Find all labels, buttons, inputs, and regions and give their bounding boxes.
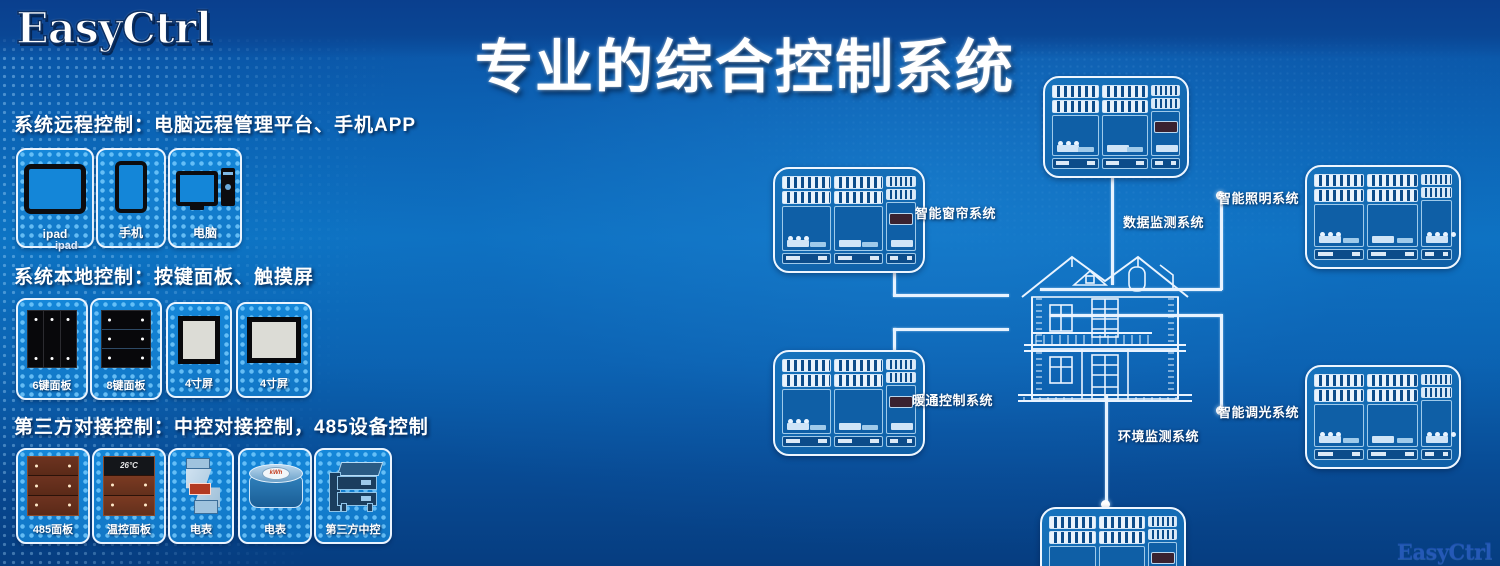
module-environment-monitor[interactable]: [1040, 507, 1186, 566]
diagram-label-lighting: 智能照明系统: [1218, 188, 1299, 207]
eight-key-panel-icon: [92, 300, 160, 377]
thermostat-panel-icon: 26°C: [94, 450, 164, 521]
section-title-thirdparty: 第三方对接控制：中控对接控制，485设备控制: [14, 412, 429, 439]
device-card-meter-2[interactable]: kWh 电表: [238, 448, 312, 544]
module-curtain-controller[interactable]: [773, 167, 925, 273]
device-label: 第三方中控: [326, 521, 381, 537]
device-label: ipad: [43, 227, 68, 241]
ghost-label-ipad: ipad: [55, 240, 78, 252]
diagram-label-hvac: 暖通控制系统: [912, 390, 993, 409]
device-label: 6键面板: [32, 377, 71, 393]
touch-screen-wide-icon: [238, 304, 310, 375]
system-topology-diagram: 智能窗帘系统 数据监测系统 智能照明系统: [740, 60, 1500, 566]
module-data-monitor[interactable]: [1043, 76, 1189, 178]
device-card-ipad[interactable]: ipad: [16, 148, 94, 248]
tablet-icon: [18, 150, 92, 227]
device-card-thermostat[interactable]: 26°C 温控面板: [92, 448, 166, 544]
diagram-label-data: 数据监测系统: [1123, 212, 1204, 231]
device-label: 4寸屏: [260, 375, 288, 391]
poster-canvas: EasyCtrl 专业的综合控制系统 系统远程控制：电脑远程管理平台、手机APP…: [0, 0, 1500, 566]
round-meter-icon: kWh: [240, 450, 310, 521]
six-key-panel-icon: [18, 300, 86, 377]
device-card-8key[interactable]: 8键面板: [90, 298, 162, 400]
device-card-screen-4in-a[interactable]: 4寸屏: [166, 302, 232, 398]
third-party-controller-icon: [316, 450, 390, 521]
section-title-local: 系统本地控制：按键面板、触摸屏: [14, 262, 314, 289]
touch-screen-icon: [168, 304, 230, 375]
rs485-panel-icon: [18, 450, 88, 521]
desktop-pc-icon: [170, 150, 240, 224]
device-label: 电表: [190, 521, 212, 537]
wire-hvac-h: [893, 328, 1009, 331]
diagram-label-curtain: 智能窗帘系统: [915, 203, 996, 222]
wire-dimming-v: [1220, 314, 1223, 410]
device-label: 485面板: [33, 521, 73, 537]
device-label: 手机: [119, 224, 143, 241]
section-title-remote: 系统远程控制：电脑远程管理平台、手机APP: [14, 110, 416, 137]
device-card-pc[interactable]: 电脑: [168, 148, 242, 248]
device-label: 电脑: [193, 224, 217, 241]
device-label: 4寸屏: [185, 375, 213, 391]
diagram-label-environment: 环境监测系统: [1118, 426, 1199, 445]
device-card-meter-1[interactable]: 电表: [168, 448, 234, 544]
diagram-label-dimming: 智能调光系统: [1218, 402, 1299, 421]
brand-logo: EasyCtrl: [16, 4, 211, 54]
device-label: 电表: [264, 521, 286, 537]
energy-meter-icon: [170, 450, 232, 521]
wire-curtain-h: [893, 294, 1009, 297]
module-lighting-controller[interactable]: [1305, 165, 1461, 269]
device-card-485-panel[interactable]: 485面板: [16, 448, 90, 544]
wire-lighting-v: [1220, 195, 1223, 290]
thermostat-display: 26°C: [104, 457, 154, 475]
villa-house-icon: [1010, 245, 1200, 405]
device-card-screen-4in-b[interactable]: 4寸屏: [236, 302, 312, 398]
watermark-logo: EasyCtrl: [1397, 539, 1492, 564]
device-label: 8键面板: [106, 377, 145, 393]
device-card-phone[interactable]: 手机: [96, 148, 166, 248]
device-card-third-party-controller[interactable]: 第三方中控: [314, 448, 392, 544]
device-card-6key[interactable]: 6键面板: [16, 298, 88, 400]
module-dimming-controller[interactable]: [1305, 365, 1461, 469]
module-hvac-controller[interactable]: [773, 350, 925, 456]
device-label: 温控面板: [107, 521, 151, 537]
smartphone-icon: [98, 150, 164, 224]
wire-environment-v: [1105, 396, 1108, 504]
meter-dial-text: kWh: [262, 467, 290, 480]
